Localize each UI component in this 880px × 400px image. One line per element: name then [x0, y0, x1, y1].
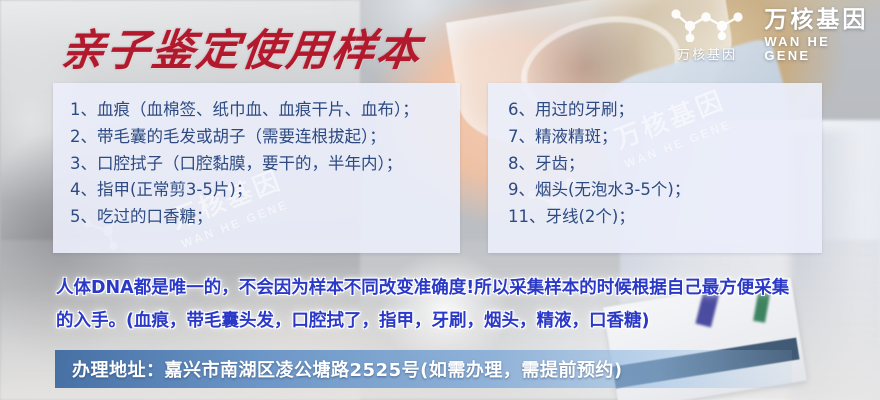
list-item: 7、精液精斑； — [508, 124, 822, 151]
list-item: 4、指甲(正常剪3-5片)； — [70, 177, 460, 204]
list-item: 11、牙线(2个)； — [508, 204, 822, 231]
brand-wordmark: 万核基因 WAN HE GENE — [764, 8, 880, 62]
watermark-cn: 万核基因 — [369, 249, 460, 253]
sample-panel-right: 万核基因 WAN HE GENE 6、用过的牙刷； 7、精液精斑； 8、牙齿； … — [488, 83, 822, 253]
list-item: 5、吃过的口香糖； — [70, 204, 460, 231]
sample-panel-left: 万核基因 WAN HE GENE 万核基因 WAN HE GENE 1、血痕（血… — [53, 83, 460, 253]
brand-logo-mark: 万核基因 — [660, 8, 754, 63]
list-item: 9、烟头(无泡水3-5个)； — [508, 177, 822, 204]
address-bar: 办理地址：嘉兴市南湖区凌公塘路2525号(如需办理，需提前预约) — [55, 350, 792, 388]
poster-canvas: 万核基因 万核基因 WAN HE GENE 亲子鉴定使用样本 万核基因 WAN … — [0, 0, 880, 400]
dna-molecule-icon — [668, 8, 746, 42]
watermark-secondary: 万核基因 WAN HE GENE — [369, 249, 460, 253]
brand-name-en: WAN HE GENE — [764, 35, 880, 62]
address-text: 办理地址：嘉兴市南湖区凌公塘路2525号(如需办理，需提前预约) — [55, 356, 623, 382]
brand-mark-label: 万核基因 — [677, 44, 737, 63]
sample-list-left: 1、血痕（血棉签、纸巾血、血痕干片、血布）； 2、带毛囊的毛发或胡子（需要连根拔… — [53, 83, 460, 231]
brand-logo: 万核基因 万核基因 WAN HE GENE — [660, 8, 880, 63]
list-item: 6、用过的牙刷； — [508, 97, 822, 124]
dna-note-line-1: 人体DNA都是唯一的，不会因为样本不同改变准确度!所以采集样本的时候根据自己最方… — [56, 272, 846, 305]
page-title: 亲子鉴定使用样本 — [58, 16, 426, 78]
list-item: 8、牙齿； — [508, 151, 822, 178]
list-item: 1、血痕（血棉签、纸巾血、血痕干片、血布）； — [70, 97, 460, 124]
dna-note-line-2: 的入手。(血痕，带毛囊头发，口腔拭了，指甲，牙刷，烟头，精液，口香糖) — [56, 305, 846, 338]
list-item: 2、带毛囊的毛发或胡子（需要连根拔起）； — [70, 124, 460, 151]
brand-name-cn: 万核基因 — [764, 8, 880, 32]
dna-note-paragraph: 人体DNA都是唯一的，不会因为样本不同改变准确度!所以采集样本的时候根据自己最方… — [56, 272, 846, 338]
list-item: 3、口腔拭子（口腔黏膜，要干的，半年内）； — [70, 151, 460, 178]
sample-list-right: 6、用过的牙刷； 7、精液精斑； 8、牙齿； 9、烟头(无泡水3-5个)； 11… — [488, 83, 822, 231]
